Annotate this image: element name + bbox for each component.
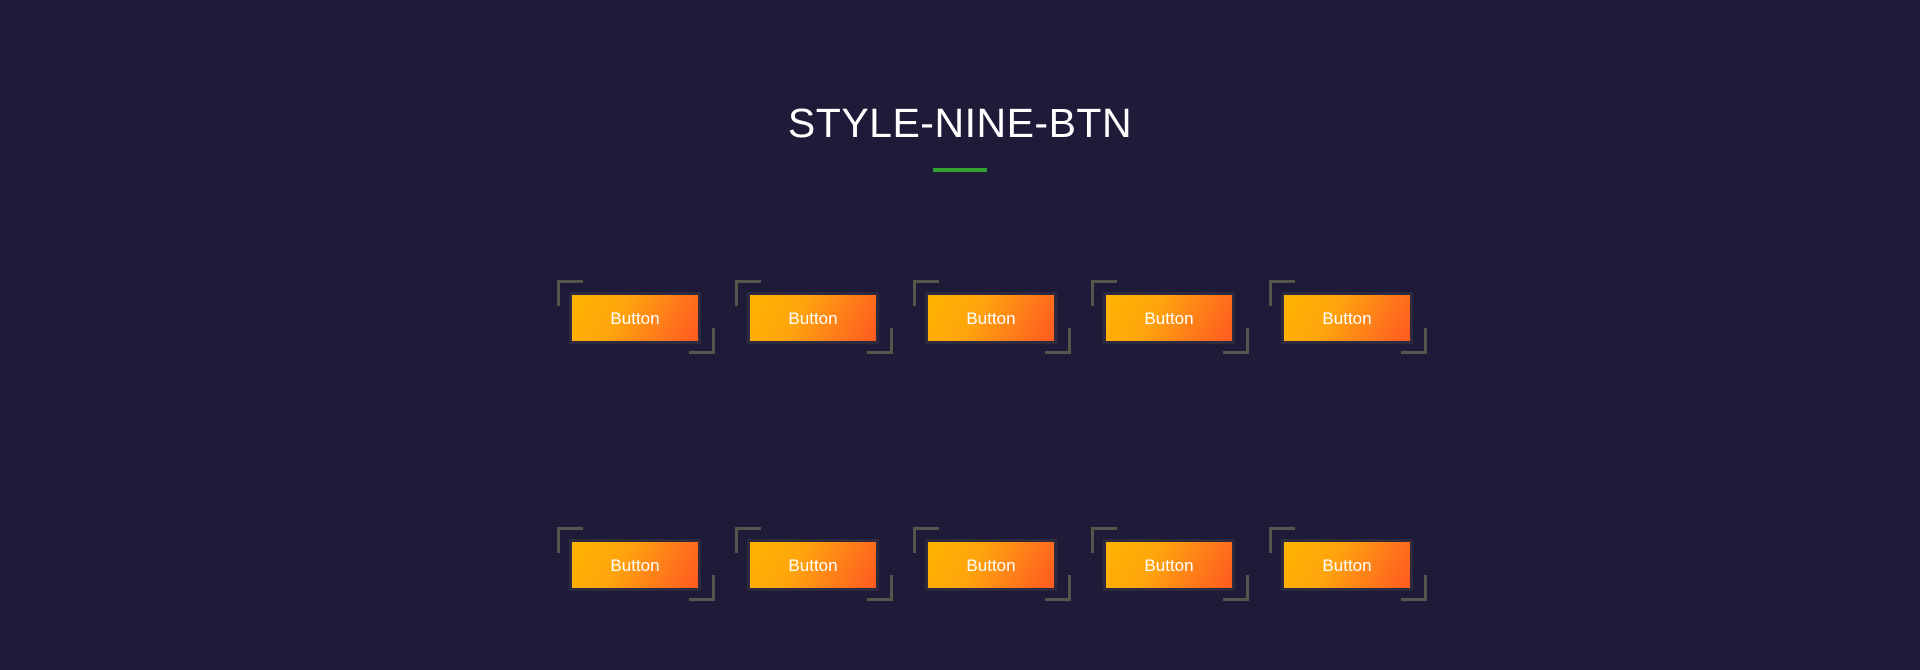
button-wrapper: Button	[1091, 527, 1261, 603]
button-grid: Button Button Button Button Button Bu	[0, 280, 1920, 603]
style-nine-button[interactable]: Button	[1281, 292, 1413, 344]
button-row-2: Button Button Button Button Button	[557, 527, 1439, 603]
style-nine-button[interactable]: Button	[569, 292, 701, 344]
style-nine-button[interactable]: Button	[1281, 539, 1413, 591]
button-wrapper: Button	[1269, 280, 1439, 356]
button-wrapper: Button	[913, 280, 1083, 356]
button-wrapper: Button	[557, 527, 727, 603]
style-nine-button[interactable]: Button	[925, 539, 1057, 591]
style-nine-button[interactable]: Button	[747, 539, 879, 591]
style-nine-button[interactable]: Button	[1103, 539, 1235, 591]
button-wrapper: Button	[735, 280, 905, 356]
style-nine-button[interactable]: Button	[569, 539, 701, 591]
button-wrapper: Button	[913, 527, 1083, 603]
title-underline-divider	[933, 168, 987, 172]
button-wrapper: Button	[557, 280, 727, 356]
page-header: STYLE-NINE-BTN	[0, 0, 1920, 172]
button-wrapper: Button	[1091, 280, 1261, 356]
button-wrapper: Button	[1269, 527, 1439, 603]
button-wrapper: Button	[735, 527, 905, 603]
style-nine-button[interactable]: Button	[1103, 292, 1235, 344]
button-row-1: Button Button Button Button Button	[557, 280, 1439, 356]
style-nine-button[interactable]: Button	[925, 292, 1057, 344]
style-nine-button[interactable]: Button	[747, 292, 879, 344]
page-title: STYLE-NINE-BTN	[0, 103, 1920, 144]
